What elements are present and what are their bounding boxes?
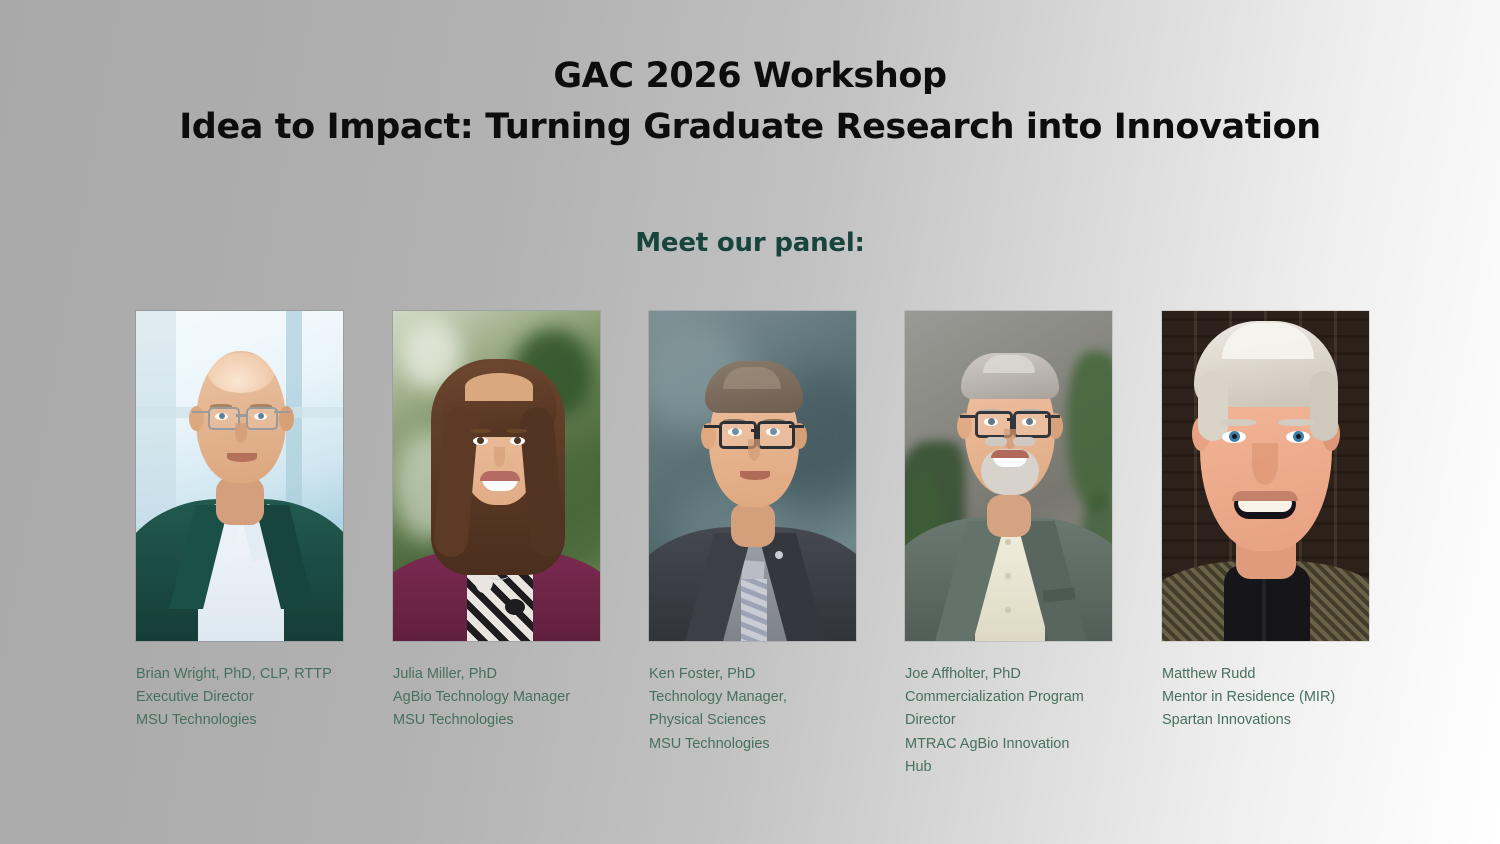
panelist-caption-5: Matthew Rudd Mentor in Residence (MIR) S… [1162,663,1377,733]
panelist-card-2: Julia Miller, PhD AgBio Technology Manag… [393,311,600,641]
panelist-caption-3: Ken Foster, PhD Technology Manager, Phys… [649,663,864,756]
page-title-line-1: GAC 2026 Workshop [0,52,1500,100]
panelist-card-3: Ken Foster, PhD Technology Manager, Phys… [649,311,856,641]
panelist-photo-1 [136,311,343,641]
title-block: GAC 2026 Workshop Idea to Impact: Turnin… [0,52,1500,152]
panelist-card-4: Joe Affholter, PhD Commercialization Pro… [905,311,1112,641]
panelist-caption-2: Julia Miller, PhD AgBio Technology Manag… [393,663,608,733]
panel-subtitle: Meet our panel: [0,228,1500,258]
panelist-card-5: Matthew Rudd Mentor in Residence (MIR) S… [1162,311,1369,641]
panelist-caption-1: Brian Wright, PhD, CLP, RTTP Executive D… [136,663,351,733]
panelist-row: Brian Wright, PhD, CLP, RTTP Executive D… [136,311,1366,811]
panelist-photo-4 [905,311,1112,641]
panelist-card-1: Brian Wright, PhD, CLP, RTTP Executive D… [136,311,343,641]
slide-canvas: GAC 2026 Workshop Idea to Impact: Turnin… [0,0,1500,844]
page-title-line-2: Idea to Impact: Turning Graduate Researc… [0,102,1500,152]
panelist-caption-4: Joe Affholter, PhD Commercialization Pro… [905,663,1120,779]
panelist-photo-5 [1162,311,1369,641]
panelist-photo-2 [393,311,600,641]
panelist-photo-3 [649,311,856,641]
